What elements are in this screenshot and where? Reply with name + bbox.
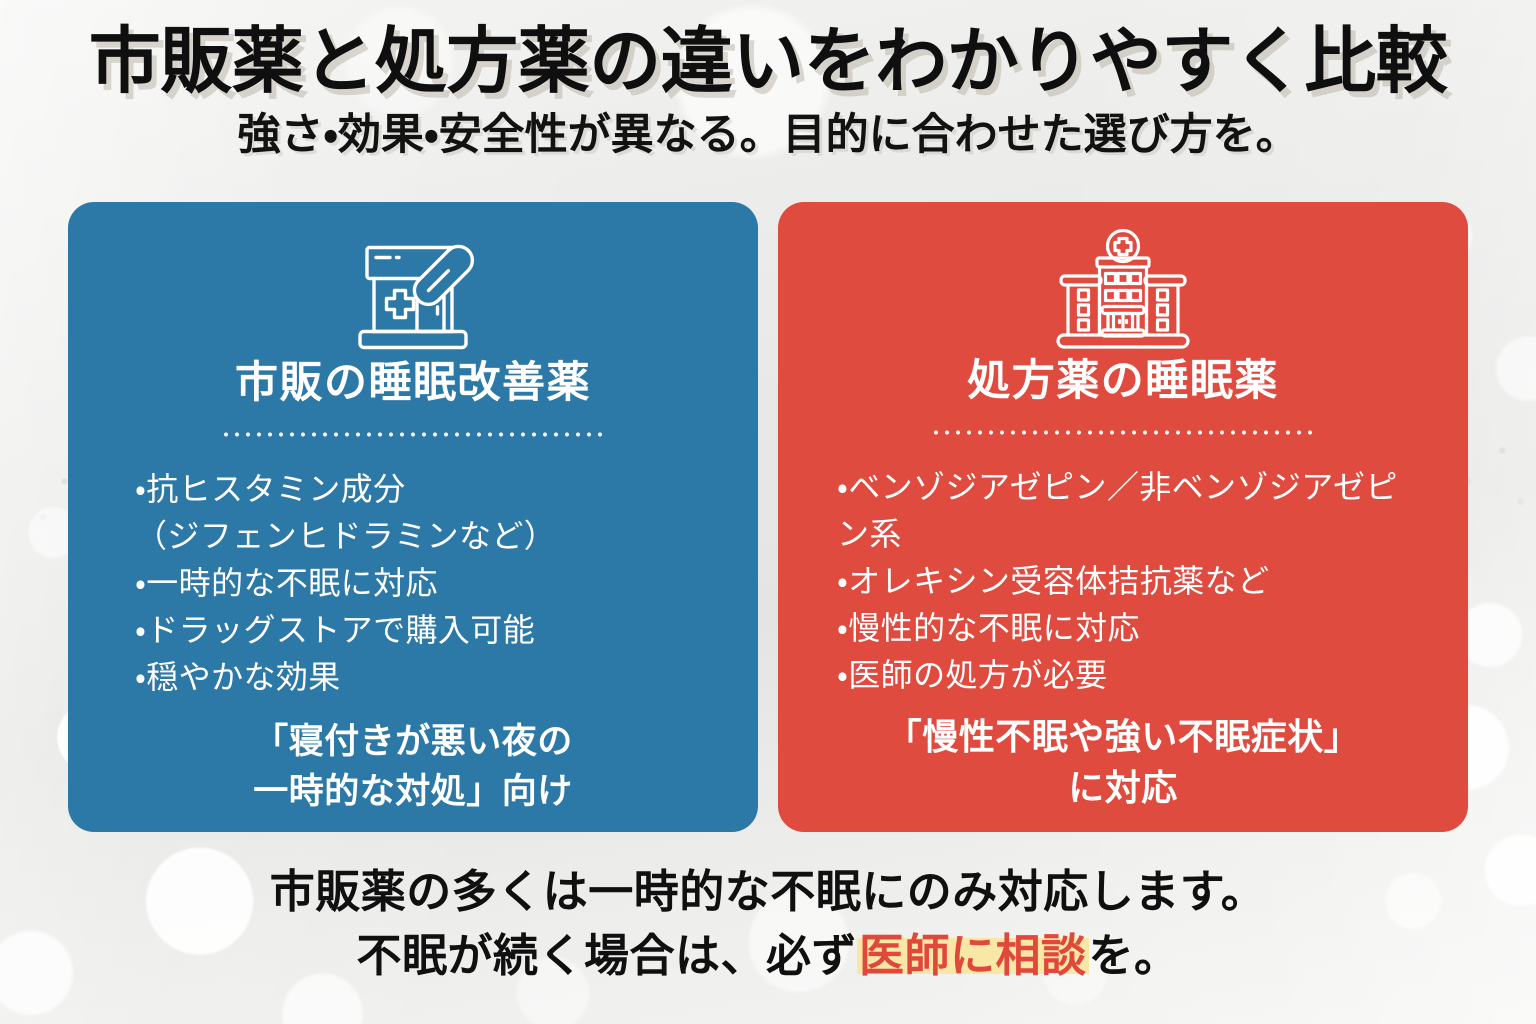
card-prescription-divider bbox=[928, 429, 1318, 436]
card-prescription-body: ・ベンゾジアゼピン／非ベンゾジアゼピン系 ・オレキシン受容体拮抗薬など ・慢性的… bbox=[823, 464, 1423, 813]
footer-note: 市販薬の多くは一時的な不眠にのみ対応します。 不眠が続く場合は、必ず医師に相談を… bbox=[0, 860, 1536, 988]
infographic-root: 市販薬と処方薬の違いをわかりやすく比較 強さ・効果・安全性が異なる。目的に合わせ… bbox=[0, 0, 1536, 1024]
list-item: ・抗ヒスタミン成分 bbox=[135, 466, 713, 513]
card-otc-quote-line2: 一時的な対処」向け bbox=[113, 767, 713, 817]
list-item: ・ベンゾジアゼピン／非ベンゾジアゼピン系 bbox=[837, 464, 1423, 558]
card-otc-quote-line1: 「寝付きが悪い夜の bbox=[113, 717, 713, 767]
footer-line-2: 不眠が続く場合は、必ず医師に相談を。 bbox=[0, 924, 1536, 988]
card-otc-bullet-list: ・抗ヒスタミン成分 （ジフェンヒドラミンなど） ・一時的な不眠に対応 ・ドラッグ… bbox=[135, 466, 713, 701]
footer-highlight-consult-doctor: 医師に相談 bbox=[857, 930, 1089, 981]
card-prescription-quote-line2: に対応 bbox=[823, 762, 1423, 813]
page-title: 市販薬と処方薬の違いをわかりやすく比較 bbox=[0, 24, 1536, 102]
list-item: ・オレキシン受容体拮抗薬など bbox=[837, 558, 1423, 605]
card-prescription-title: 処方薬の睡眠薬 bbox=[967, 360, 1279, 403]
list-item: ・慢性的な不眠に対応 bbox=[837, 605, 1423, 652]
header: 市販薬と処方薬の違いをわかりやすく比較 強さ・効果・安全性が異なる。目的に合わせ… bbox=[0, 0, 1536, 159]
footer-line-1: 市販薬の多くは一時的な不眠にのみ対応します。 bbox=[0, 860, 1536, 924]
footer-line-2-prefix: 不眠が続く場合は、必ず bbox=[356, 930, 857, 981]
card-otc: 市販の睡眠改善薬 ・抗ヒスタミン成分 （ジフェンヒドラミンなど） ・一時的な不眠… bbox=[68, 202, 758, 832]
list-item: ・一時的な不眠に対応 bbox=[135, 560, 713, 607]
card-prescription-quote-line1: 「慢性不眠や強い不眠症状」 bbox=[823, 711, 1423, 762]
footer-line-2-suffix: を。 bbox=[1089, 930, 1180, 981]
comparison-cards: 市販の睡眠改善薬 ・抗ヒスタミン成分 （ジフェンヒドラミンなど） ・一時的な不眠… bbox=[68, 202, 1468, 832]
list-item: ・穏やかな効果 bbox=[135, 654, 713, 701]
card-otc-title: 市販の睡眠改善薬 bbox=[235, 362, 591, 405]
card-prescription: 処方薬の睡眠薬 ・ベンゾジアゼピン／非ベンゾジアゼピン系 ・オレキシン受容体拮抗… bbox=[778, 202, 1468, 832]
list-item: ・医師の処方が必要 bbox=[837, 652, 1423, 699]
card-prescription-bullet-list: ・ベンゾジアゼピン／非ベンゾジアゼピン系 ・オレキシン受容体拮抗薬など ・慢性的… bbox=[837, 464, 1423, 699]
card-otc-body: ・抗ヒスタミン成分 （ジフェンヒドラミンなど） ・一時的な不眠に対応 ・ドラッグ… bbox=[113, 466, 713, 817]
list-item: ・ドラッグストアで購入可能 bbox=[135, 607, 713, 654]
card-otc-quote: 「寝付きが悪い夜の 一時的な対処」向け bbox=[113, 717, 713, 816]
hospital-building-icon bbox=[1047, 224, 1199, 356]
page-subtitle: 強さ・効果・安全性が異なる。目的に合わせた選び方を。 bbox=[0, 112, 1536, 159]
list-item: （ジフェンヒドラミンなど） bbox=[135, 513, 713, 560]
card-prescription-quote: 「慢性不眠や強い不眠症状」 に対応 bbox=[823, 711, 1423, 813]
card-otc-divider bbox=[218, 431, 608, 438]
pharmacy-store-icon bbox=[338, 230, 488, 354]
